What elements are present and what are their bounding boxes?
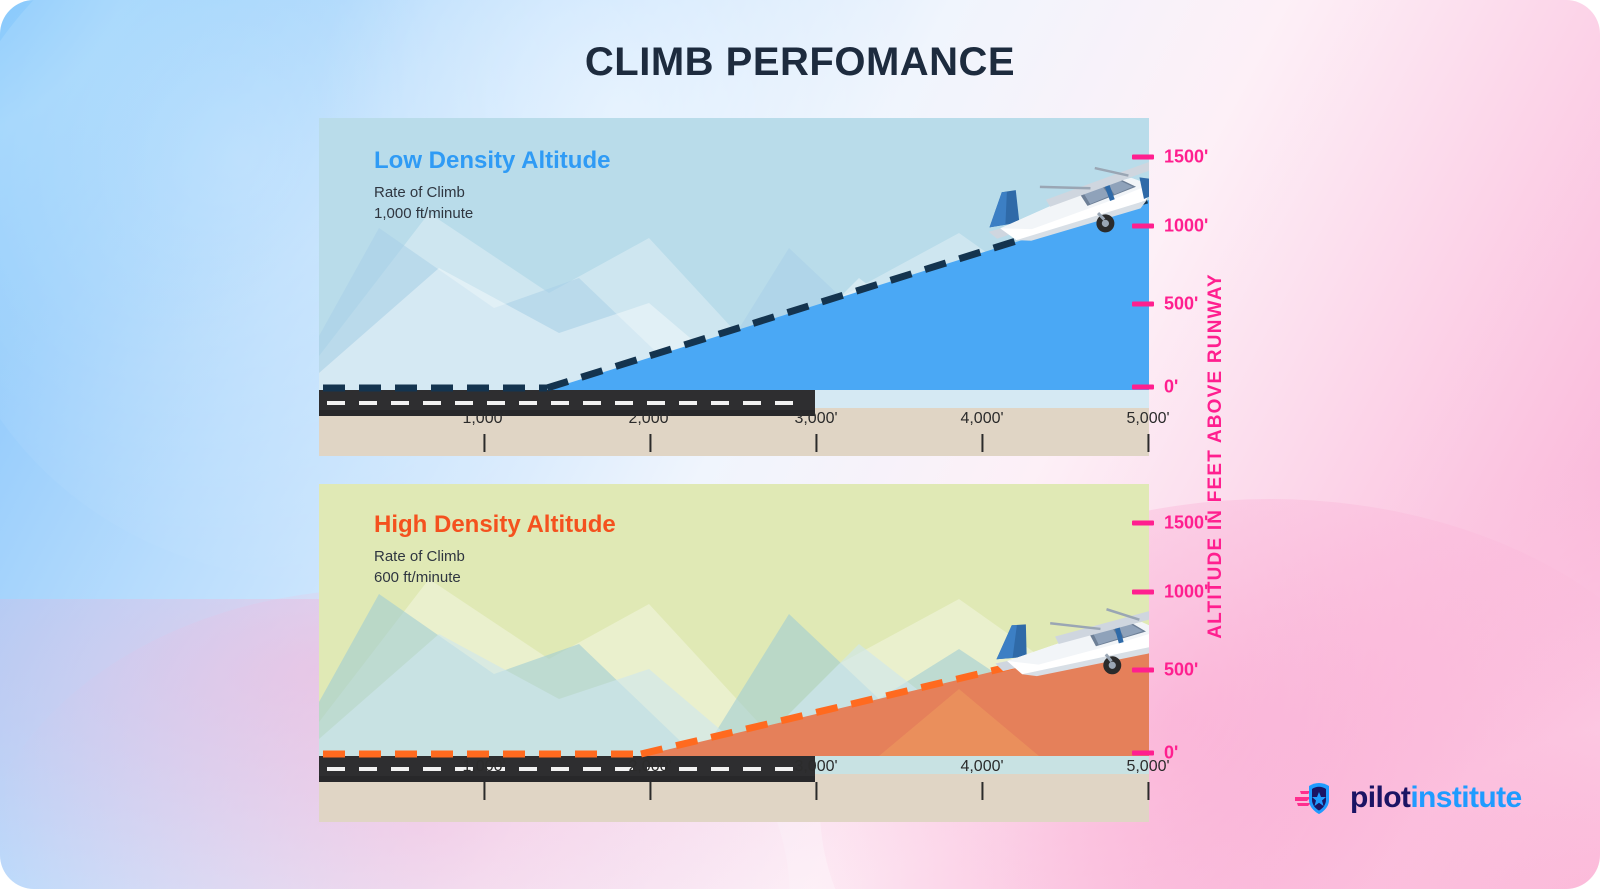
y-tick-dash-icon xyxy=(1132,751,1154,756)
x-tick-label: 2,000' xyxy=(628,758,671,776)
x-tick-mark-icon xyxy=(483,782,485,800)
infographic-canvas: CLIMB PERFOMANCE xyxy=(0,0,1600,889)
y-tick-label: 1500' xyxy=(1164,147,1208,168)
x-tick-2000-chart1: 2,000' xyxy=(628,410,671,452)
x-tick-mark-icon xyxy=(483,434,485,452)
x-tick-3000-chart1: 3,000' xyxy=(794,410,837,452)
x-tick-mark-icon xyxy=(649,782,651,800)
x-tick-mark-icon xyxy=(1147,782,1149,800)
x-tick-mark-icon xyxy=(981,782,983,800)
x-tick-1000-chart2: 1,000' xyxy=(462,758,505,800)
chart-low-density-altitude: Low Density Altitude Rate of Climb 1,000… xyxy=(319,118,1149,456)
x-axis-chart-1: 1,000' 2,000' 3,000' 4,000' 5,000' xyxy=(319,410,1149,468)
x-tick-4000-chart2: 4,000' xyxy=(960,758,1003,800)
x-tick-label: 3,000' xyxy=(794,758,837,776)
x-tick-label: 2,000' xyxy=(628,410,671,428)
chart-low-density-svg xyxy=(319,118,1149,456)
x-tick-2000-chart2: 2,000' xyxy=(628,758,671,800)
brand-name-primary: pilot xyxy=(1350,781,1410,814)
y-tick-label: 1000' xyxy=(1164,216,1208,237)
x-tick-mark-icon xyxy=(981,434,983,452)
brand-wordmark: pilotinstitute xyxy=(1350,783,1522,813)
x-tick-3000-chart2: 3,000' xyxy=(794,758,837,800)
y-tick-dash-icon xyxy=(1132,668,1154,673)
page-title: CLIMB PERFOMANCE xyxy=(0,40,1600,85)
y-tick-dash-icon xyxy=(1132,302,1154,307)
shield-star-wing-icon xyxy=(1295,780,1341,816)
y-tick-dash-icon xyxy=(1132,521,1154,526)
y-tick-500-chart1: 500' xyxy=(1132,294,1198,315)
x-tick-label: 4,000' xyxy=(960,410,1003,428)
y-tick-dash-icon xyxy=(1132,224,1154,229)
y-tick-label: 0' xyxy=(1164,377,1178,398)
y-tick-dash-icon xyxy=(1132,385,1154,390)
y-tick-label: 500' xyxy=(1164,660,1198,681)
x-axis-chart-2: 1,000' 2,000' 3,000' 4,000' 5,000' xyxy=(319,758,1149,816)
x-tick-label: 5,000' xyxy=(1126,410,1169,428)
y-axis-title: ALTITUDE IN FEET ABOVE RUNWAY xyxy=(1196,246,1236,666)
y-tick-label: 500' xyxy=(1164,294,1198,315)
y-tick-1500-chart1: 1500' xyxy=(1132,147,1208,168)
x-tick-5000-chart1: 5,000' xyxy=(1126,410,1169,452)
x-tick-1000-chart1: 1,000' xyxy=(462,410,505,452)
x-tick-label: 1,000' xyxy=(462,410,505,428)
x-tick-label: 4,000' xyxy=(960,758,1003,776)
x-tick-mark-icon xyxy=(815,434,817,452)
y-axis-title-text: ALTITUDE IN FEET ABOVE RUNWAY xyxy=(1205,273,1227,639)
y-tick-500-chart2: 500' xyxy=(1132,660,1198,681)
x-tick-mark-icon xyxy=(815,782,817,800)
y-tick-1000-chart1: 1000' xyxy=(1132,216,1208,237)
x-tick-label: 3,000' xyxy=(794,410,837,428)
x-tick-label: 1,000' xyxy=(462,758,505,776)
y-tick-dash-icon xyxy=(1132,590,1154,595)
brand-name-secondary: institute xyxy=(1410,781,1521,814)
y-tick-0-chart1: 0' xyxy=(1132,377,1178,398)
x-tick-mark-icon xyxy=(1147,434,1149,452)
y-tick-dash-icon xyxy=(1132,155,1154,160)
x-tick-4000-chart1: 4,000' xyxy=(960,410,1003,452)
brand-logo[interactable]: pilotinstitute xyxy=(1295,780,1522,816)
x-tick-5000-chart2: 5,000' xyxy=(1126,758,1169,800)
x-tick-mark-icon xyxy=(649,434,651,452)
x-tick-label: 5,000' xyxy=(1126,758,1169,776)
